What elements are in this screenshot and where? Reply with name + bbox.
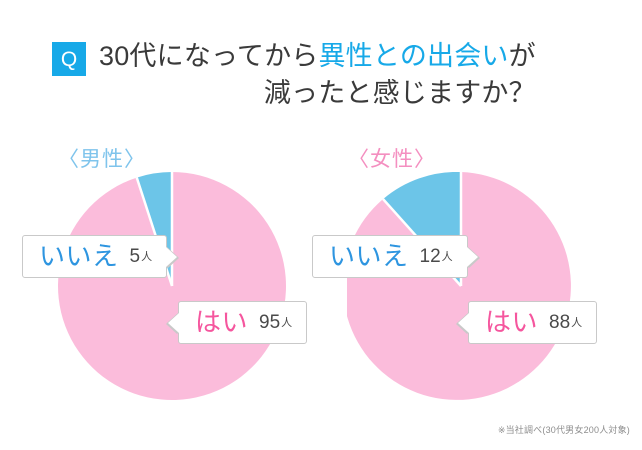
page-title: Q 30代になってから異性との出会いが 減ったと感じますか？	[52, 38, 612, 111]
callout-pointer-icon	[467, 247, 478, 267]
callout-male-yes-unit: 人	[281, 314, 292, 330]
callout-pointer-icon	[458, 313, 469, 333]
callout-male-no: いいえ 5 人	[22, 235, 167, 278]
callout-pointer-icon	[168, 313, 179, 333]
title-segment-1: 30代になってから	[99, 41, 318, 71]
callout-male-yes-answer: はい	[195, 309, 248, 335]
callout-male-no-answer: いいえ	[39, 243, 119, 269]
callout-male-yes-count: 95	[259, 313, 280, 332]
callout-female-no-answer: いいえ	[329, 243, 409, 269]
pie-female-svg	[347, 172, 575, 400]
callout-female-yes-unit: 人	[571, 314, 582, 330]
callout-pointer-icon	[166, 247, 177, 267]
callout-female-no-count: 12	[420, 247, 441, 266]
callout-male-no-count: 5	[130, 247, 141, 266]
title-highlight: 異性との出会い	[318, 41, 508, 71]
callout-female-no: いいえ 12 人	[312, 235, 468, 278]
callout-female-yes-answer: はい	[485, 309, 538, 335]
title-line-2: 減ったと感じますか？	[99, 75, 536, 112]
chart-label-male: 〈男性〉	[58, 143, 146, 173]
source-footnote: ※当社調べ(30代男女200人対象)	[498, 423, 630, 436]
callout-female-yes: はい 88 人	[468, 301, 597, 344]
pie-male-svg	[58, 172, 286, 400]
infographic-canvas: Q 30代になってから異性との出会いが 減ったと感じますか？ 〈男性〉 いいえ …	[0, 0, 642, 450]
pie-chart-male	[58, 172, 286, 400]
question-badge: Q	[52, 42, 86, 76]
callout-male-yes: はい 95 人	[178, 301, 307, 344]
pie-chart-female	[347, 172, 575, 400]
callout-male-no-unit: 人	[141, 248, 152, 264]
title-segment-3: が	[509, 41, 536, 71]
chart-label-female: 〈女性〉	[348, 143, 436, 173]
title-line-1: 30代になってから異性との出会いが	[99, 38, 536, 75]
callout-female-yes-count: 88	[549, 313, 570, 332]
callout-female-no-unit: 人	[442, 248, 453, 264]
